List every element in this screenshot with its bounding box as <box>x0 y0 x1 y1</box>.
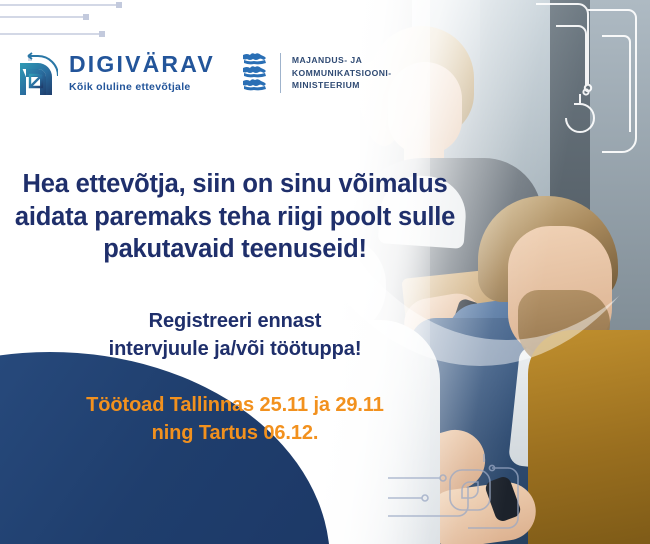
digivarav-wordmark: DIGIVÄRAV Kõik oluline ettevõtjale <box>69 53 215 93</box>
decor-line <box>0 16 84 18</box>
subheadline: Registreeri ennast intervjuule ja/või tö… <box>0 308 470 363</box>
logo-divider <box>280 53 281 93</box>
workshop-dates-line-2: ning Tartus 06.12. <box>0 420 470 448</box>
decor-line-cap <box>83 14 89 20</box>
headline-line-3: pakutavaid teenuseid! <box>0 233 470 266</box>
workshop-dates: Töötoad Tallinnas 25.11 ja 29.11 ning Ta… <box>0 392 470 447</box>
ministry-wordmark: Majandus- ja Kommunikatsiooni- ministeer… <box>292 54 392 91</box>
decor-line-cap <box>116 2 122 8</box>
logo-bar: DIGIVÄRAV Kõik oluline ettevõtjale <box>14 50 392 96</box>
headline: Hea ettevõtja, siin on sinu võimalus aid… <box>0 168 470 266</box>
subheadline-line-2: intervjuule ja/või töötuppa! <box>0 336 470 364</box>
headline-line-1: Hea ettevõtja, siin on sinu võimalus <box>0 168 470 201</box>
ministry-line-3: ministeerium <box>292 79 392 91</box>
digivarav-name: DIGIVÄRAV <box>69 53 215 76</box>
digivarav-tagline: Kõik oluline ettevõtjale <box>69 82 215 93</box>
ministry-logo[interactable]: Majandus- ja Kommunikatsiooni- ministeer… <box>241 52 392 94</box>
decor-line-cap <box>99 31 105 37</box>
gate-portal-mark-icon <box>14 50 58 96</box>
decor-line <box>0 4 118 6</box>
poster-canvas: DIGIVÄRAV Kõik oluline ettevõtjale <box>0 0 650 544</box>
headline-line-2: aidata paremaks teha riigi poolt sulle <box>0 201 470 234</box>
estonian-coat-of-arms-three-lions-icon <box>241 52 269 94</box>
workshop-dates-line-1: Töötoad Tallinnas 25.11 ja 29.11 <box>0 392 470 420</box>
decor-line <box>0 33 101 35</box>
ministry-line-2: Kommunikatsiooni- <box>292 67 392 79</box>
subheadline-line-1: Registreeri ennast <box>0 308 470 336</box>
digivarav-logo[interactable]: DIGIVÄRAV Kõik oluline ettevõtjale <box>14 50 215 96</box>
ministry-line-1: Majandus- ja <box>292 54 392 66</box>
